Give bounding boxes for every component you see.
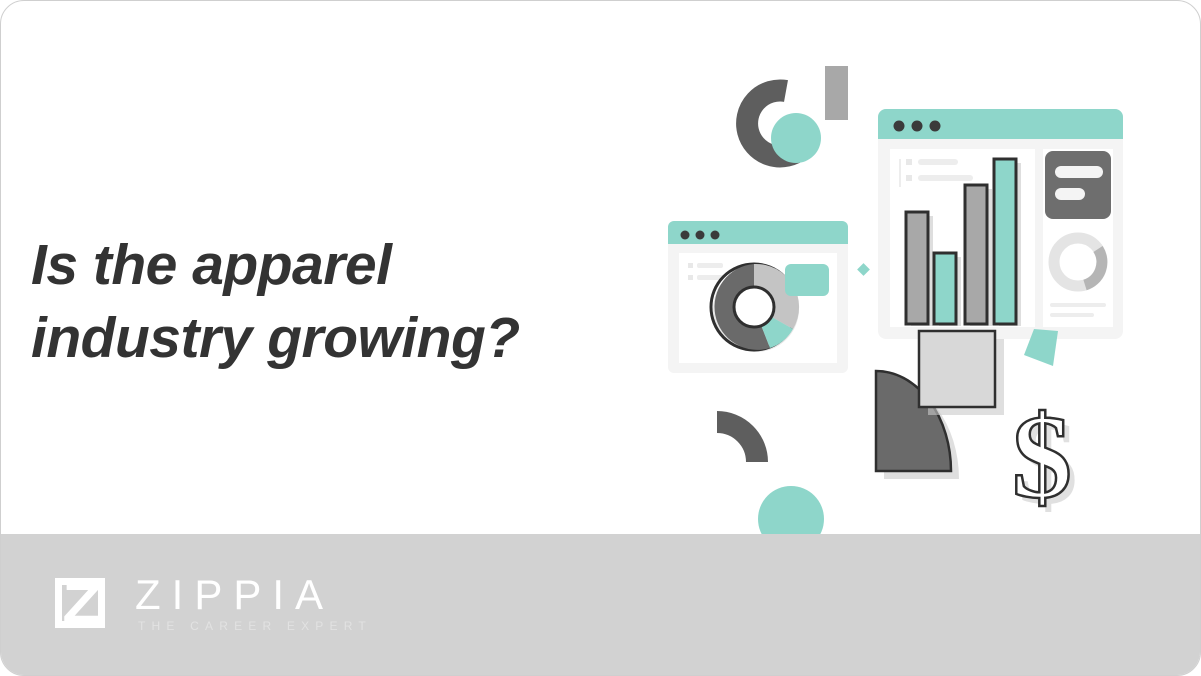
- bar-4: [994, 159, 1016, 324]
- arc-c-shape-group: [747, 90, 821, 163]
- logo-text-block: ZIPPIA THE CAREER EXPERT: [135, 571, 372, 635]
- logo-mark-letter: Z: [46, 574, 117, 632]
- outlined-square: [919, 331, 995, 407]
- gray-vertical-bar: [825, 66, 848, 120]
- logo-mark-icon: Z: [51, 572, 113, 634]
- bar-2: [934, 253, 956, 324]
- window-dot: [912, 121, 923, 132]
- info-card-pill: [1055, 188, 1085, 200]
- window-dot: [930, 121, 941, 132]
- quarter-circle-arc: [717, 422, 757, 462]
- zippia-logo[interactable]: Z ZIPPIA THE CAREER EXPERT: [51, 569, 372, 637]
- window-dot: [711, 231, 720, 240]
- teal-badge: [785, 264, 829, 296]
- window-dot: [894, 121, 905, 132]
- teal-circle-small: [771, 113, 821, 163]
- browser-window-small: [668, 221, 848, 373]
- dollar-sign: $ $: [1012, 390, 1078, 529]
- bar-1: [906, 212, 928, 324]
- window-dot: [681, 231, 690, 240]
- svg-text:$: $: [1012, 390, 1072, 523]
- window-titlebar: [668, 221, 848, 244]
- browser-window-large: [878, 109, 1123, 339]
- logo-wordmark: ZIPPIA: [135, 573, 372, 617]
- window-dot: [696, 231, 705, 240]
- page-title: Is the apparel industry growing?: [31, 229, 571, 375]
- teal-diamond: [857, 263, 870, 276]
- promo-card: Is the apparel industry growing?: [0, 0, 1201, 676]
- logo-tagline: THE CAREER EXPERT: [135, 617, 372, 635]
- analytics-dashboard-illustration: $ $: [641, 41, 1161, 561]
- info-card-pill: [1055, 166, 1103, 178]
- bar-3: [965, 185, 987, 324]
- dark-info-card: [1045, 151, 1111, 219]
